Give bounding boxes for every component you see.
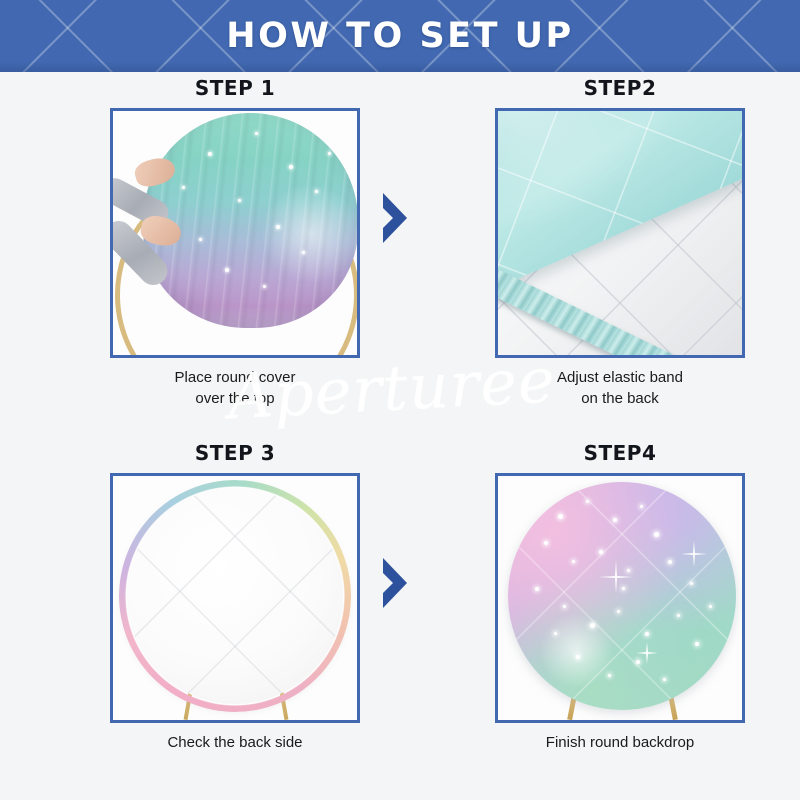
step-card-2: STEP2 Adjust elastic band on the back xyxy=(455,72,785,409)
step-caption-1-line2: over the top xyxy=(70,388,400,409)
gradient-round-cover xyxy=(143,113,357,328)
step-card-3: STEP 3 Check the back side xyxy=(70,437,400,753)
step-caption-1-line1: Place round cover xyxy=(70,367,400,388)
step-photo-3 xyxy=(113,476,357,720)
step-caption-2: Adjust elastic band on the back xyxy=(455,367,785,409)
step-caption-1: Place round cover over the top xyxy=(70,367,400,409)
step-caption-2-line2: on the back xyxy=(455,388,785,409)
page-title: HOW TO SET UP xyxy=(0,0,800,72)
star-burst-lower xyxy=(636,642,658,664)
page-header: HOW TO SET UP xyxy=(0,0,800,72)
step-photo-frame-3 xyxy=(110,473,360,723)
step-label-4: STEP4 xyxy=(455,437,785,469)
step-photo-frame-2 xyxy=(495,108,745,358)
step-card-1: STEP 1 xyxy=(70,72,400,409)
step-photo-2 xyxy=(498,111,742,355)
star-burst-center xyxy=(599,560,633,594)
finished-backdrop-disc xyxy=(508,482,736,710)
step-caption-4: Finish round backdrop xyxy=(455,732,785,753)
step-card-4: STEP4 xyxy=(455,437,785,753)
star-sparkle-overlay xyxy=(508,482,736,710)
arrow-step3-to-step4 xyxy=(377,557,413,609)
step-label-3: STEP 3 xyxy=(70,437,400,469)
step-photo-frame-4 xyxy=(495,473,745,723)
sparkle-overlay xyxy=(143,113,357,328)
step-caption-2-line1: Adjust elastic band xyxy=(455,367,785,388)
chevron-right-icon xyxy=(377,557,413,609)
step-caption-4-line1: Finish round backdrop xyxy=(455,732,785,753)
arrow-step1-to-step2 xyxy=(377,192,413,244)
chevron-right-icon xyxy=(377,192,413,244)
step-photo-1 xyxy=(113,111,357,355)
step-label-2: STEP2 xyxy=(455,72,785,104)
step-caption-3-line1: Check the back side xyxy=(70,732,400,753)
steps-grid: STEP 1 xyxy=(0,72,800,800)
step-caption-3: Check the back side xyxy=(70,732,400,753)
step-photo-frame-1 xyxy=(110,108,360,358)
step-photo-4 xyxy=(498,476,742,720)
step-label-1: STEP 1 xyxy=(70,72,400,104)
pastel-rainbow-rim xyxy=(119,480,351,712)
star-burst-right xyxy=(681,541,707,567)
